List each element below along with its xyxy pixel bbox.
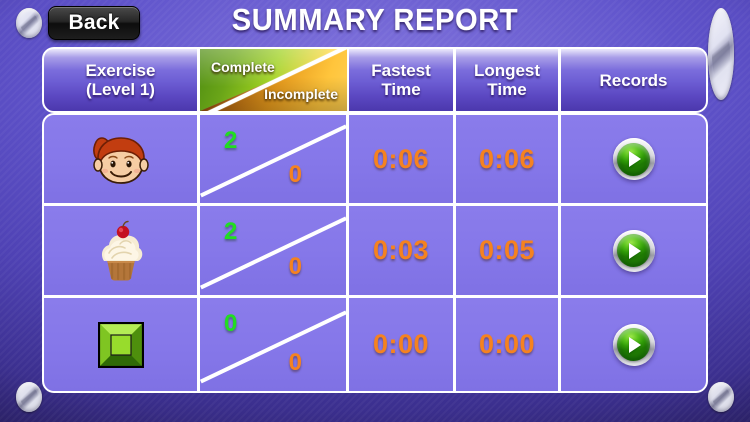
- table-row: 2 0 0:06 0:06: [42, 113, 708, 205]
- exercise-icon-cell[interactable]: [42, 297, 199, 393]
- longest-time-value: 0:05: [479, 235, 535, 266]
- table-row: 2 0 0:03 0:05: [42, 205, 708, 297]
- cupcake-svg: [90, 220, 152, 282]
- column-header-exercise-line1: Exercise: [86, 61, 156, 80]
- exercise-icon-cell[interactable]: [42, 113, 199, 205]
- beveled-square-svg: [98, 322, 144, 368]
- column-header-complete-incomplete: Complete Incomplete: [199, 47, 348, 113]
- play-disc: [617, 143, 650, 176]
- records-cell: [560, 297, 708, 393]
- incomplete-count: 0: [289, 161, 302, 189]
- play-icon[interactable]: [613, 230, 655, 272]
- screw-bolt-icon: [16, 382, 42, 412]
- page-title: SUMMARY REPORT: [23, 2, 728, 38]
- fastest-time-value: 0:00: [373, 329, 429, 360]
- column-header-longest-line2: Time: [474, 80, 540, 99]
- complete-count: 2: [224, 127, 237, 155]
- fastest-time-value: 0:06: [373, 144, 429, 175]
- summary-report-table: Exercise (Level 1) Complete Incomplete F…: [42, 47, 708, 405]
- incomplete-count: 0: [289, 253, 302, 281]
- green-beveled-square-icon: [98, 322, 144, 368]
- girl-face-icon: [90, 128, 152, 190]
- play-triangle: [629, 151, 641, 167]
- play-triangle: [629, 243, 641, 259]
- column-header-fastest-line2: Time: [371, 80, 431, 99]
- column-header-longest-line1: Longest: [474, 61, 540, 80]
- girl-face-svg: [90, 128, 152, 190]
- diagonal-divider-line: [200, 216, 347, 289]
- column-header-longest-time: Longest Time: [455, 47, 560, 113]
- split-header-graphic: Complete Incomplete: [200, 49, 347, 111]
- column-header-incomplete: Incomplete: [264, 85, 338, 104]
- longest-time-cell: 0:00: [455, 297, 560, 393]
- incomplete-count: 0: [289, 349, 302, 377]
- play-disc: [617, 328, 650, 361]
- header-bar: Back SUMMARY REPORT: [0, 0, 750, 46]
- column-header-fastest-line1: Fastest: [371, 61, 431, 80]
- complete-count: 2: [224, 218, 237, 246]
- column-header-fastest-time: Fastest Time: [348, 47, 455, 113]
- fastest-time-cell: 0:03: [348, 205, 455, 297]
- play-icon[interactable]: [613, 324, 655, 366]
- column-header-records-label: Records: [599, 71, 667, 90]
- screw-bolt-icon: [708, 8, 734, 100]
- longest-time-cell: 0:06: [455, 113, 560, 205]
- longest-time-value: 0:06: [479, 144, 535, 175]
- longest-time-cell: 0:05: [455, 205, 560, 297]
- screw-bolt-icon: [16, 8, 42, 38]
- app-window: Back SUMMARY REPORT Exercise (Level 1) C…: [0, 0, 750, 422]
- complete-count: 0: [224, 310, 237, 338]
- column-header-complete: Complete: [211, 58, 275, 77]
- score-cell: 2 0: [199, 113, 348, 205]
- fastest-time-cell: 0:00: [348, 297, 455, 393]
- score-cell: 0 0: [199, 297, 348, 393]
- play-triangle: [629, 337, 641, 353]
- longest-time-value: 0:00: [479, 329, 535, 360]
- diagonal-divider-line: [200, 125, 347, 198]
- column-header-exercise: Exercise (Level 1): [42, 47, 199, 113]
- screw-bolt-icon: [708, 382, 734, 412]
- column-header-records: Records: [560, 47, 708, 113]
- table-body: 2 0 0:06 0:06: [42, 113, 708, 405]
- fastest-time-cell: 0:06: [348, 113, 455, 205]
- records-cell: [560, 205, 708, 297]
- table-header-row: Exercise (Level 1) Complete Incomplete F…: [42, 47, 708, 113]
- column-header-exercise-line2: (Level 1): [86, 80, 156, 99]
- table-row: 0 0 0:00 0:00: [42, 297, 708, 393]
- score-cell: 2 0: [199, 205, 348, 297]
- fastest-time-value: 0:03: [373, 235, 429, 266]
- play-icon[interactable]: [613, 138, 655, 180]
- play-disc: [617, 234, 650, 267]
- cupcake-icon: [90, 220, 152, 282]
- exercise-icon-cell[interactable]: [42, 205, 199, 297]
- records-cell: [560, 113, 708, 205]
- diagonal-divider-line: [200, 310, 347, 383]
